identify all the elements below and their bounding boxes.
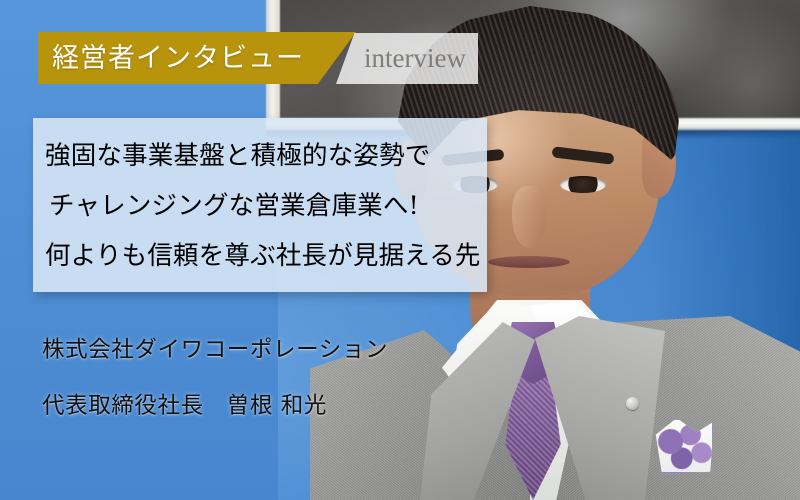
portrait-lapel-pin — [626, 397, 639, 410]
portrait-mouth — [488, 256, 570, 268]
category-label-ja: 経営者インタビュー — [38, 45, 304, 72]
headline-panel: 強固な事業基盤と積極的な姿勢で チャレンジングな営業倉庫業へ! 何よりも信頼を尊… — [33, 118, 487, 292]
headline-line-1: 強固な事業基盤と積極的な姿勢で — [45, 131, 487, 181]
headline-line-2: チャレンジングな営業倉庫業へ! — [45, 181, 487, 231]
portrait-nose — [512, 186, 546, 248]
interview-hero-banner: 経営者インタビュー interview 強固な事業基盤と積極的な姿勢で チャレン… — [0, 0, 800, 500]
category-ribbon: 経営者インタビュー — [38, 32, 356, 84]
headline-line-3: 何よりも信頼を尊ぶ社長が見据える先 — [45, 231, 487, 281]
credit-person-name: 代表取締役社長 曽根 和光 — [42, 378, 472, 434]
portrait-eye-right — [560, 176, 606, 193]
credit-company-name: 株式会社ダイワコーポレーション — [42, 322, 472, 378]
category-label-en: interview — [336, 45, 466, 72]
credit-block: 株式会社ダイワコーポレーション 代表取締役社長 曽根 和光 — [42, 322, 472, 434]
category-ribbon-en-plate: interview — [336, 33, 478, 84]
